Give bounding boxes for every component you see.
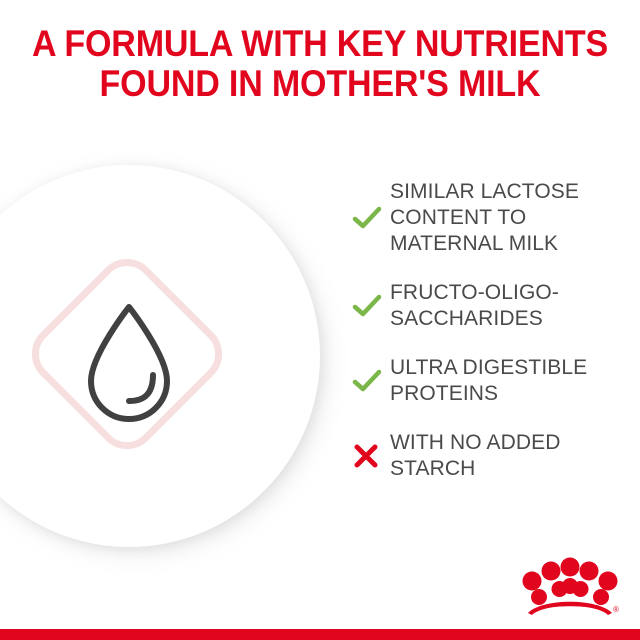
water-droplet-icon <box>77 301 181 425</box>
list-item-label: FRUCTO-OLIGO- SACCHARIDES <box>390 279 559 332</box>
check-icon <box>352 366 390 396</box>
footer-red-bar <box>0 629 640 640</box>
list-item: SIMILAR LACTOSE CONTENT TO MATERNAL MILK <box>352 178 624 257</box>
check-icon <box>352 291 390 321</box>
check-icon <box>352 203 390 233</box>
list-item: WITH NO ADDED STARCH <box>352 429 624 482</box>
list-item-label: SIMILAR LACTOSE CONTENT TO MATERNAL MILK <box>390 178 579 257</box>
page-title: A FORMULA WITH KEY NUTRIENTS FOUND IN MO… <box>26 24 615 104</box>
list-item-label: WITH NO ADDED STARCH <box>390 429 560 482</box>
cross-icon <box>352 441 390 471</box>
list-item: FRUCTO-OLIGO- SACCHARIDES <box>352 279 624 332</box>
illustration-group <box>0 165 320 547</box>
list-item-label: ULTRA DIGESTIBLE PROTEINS <box>390 354 587 407</box>
poster-canvas: A FORMULA WITH KEY NUTRIENTS FOUND IN MO… <box>0 0 640 640</box>
royal-canin-crown-logo: ® <box>518 556 622 618</box>
list-item: ULTRA DIGESTIBLE PROTEINS <box>352 354 624 407</box>
registered-trademark-symbol: ® <box>613 605 619 614</box>
benefits-list: SIMILAR LACTOSE CONTENT TO MATERNAL MILK… <box>352 178 624 482</box>
